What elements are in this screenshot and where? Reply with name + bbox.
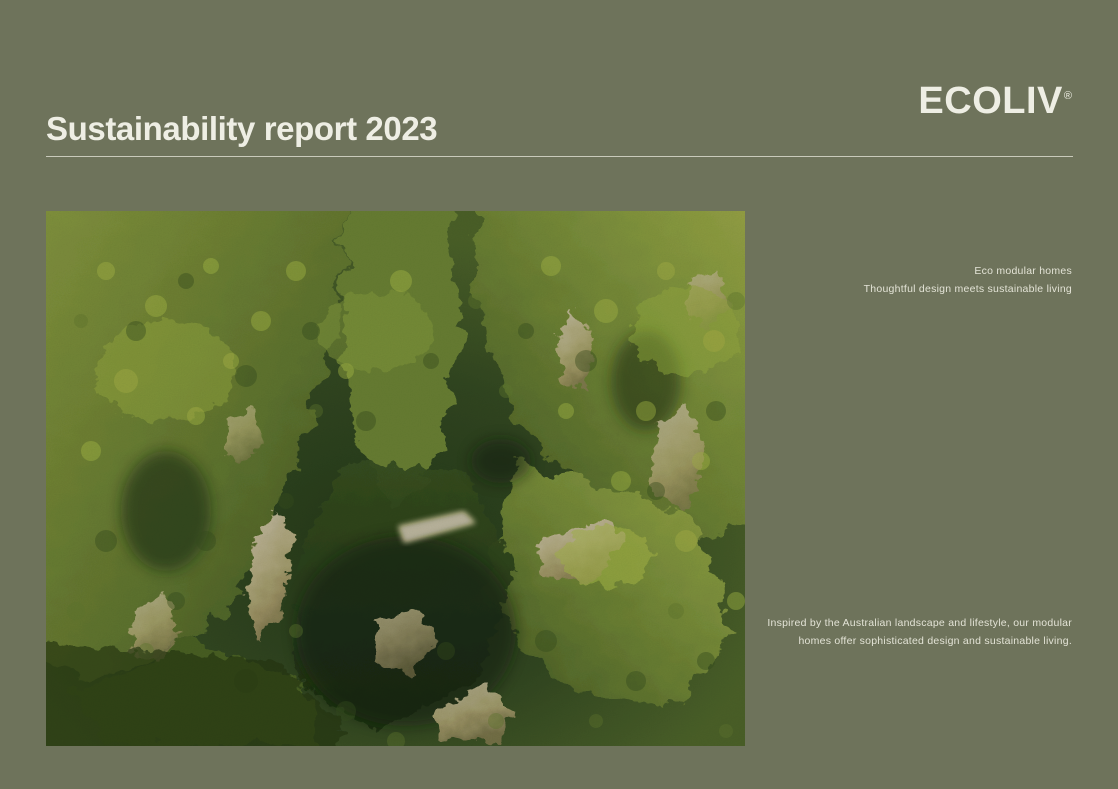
- brand-logo: ECOLIV®: [918, 82, 1072, 120]
- header-divider: [46, 156, 1073, 157]
- intro-blurb: Inspired by the Australian landscape and…: [732, 614, 1072, 651]
- hero-photo-artwork: [46, 211, 745, 746]
- tagline-line-2: Thoughtful design meets sustainable livi…: [742, 280, 1072, 298]
- tagline-block: Eco modular homes Thoughtful design meet…: [742, 262, 1072, 298]
- brand-wordmark: ECOLIV: [918, 80, 1062, 122]
- registered-trademark-icon: ®: [1064, 90, 1072, 102]
- hero-aerial-forest-photo: [46, 211, 745, 746]
- page-title: Sustainability report 2023: [46, 112, 437, 145]
- report-cover-page: Sustainability report 2023 ECOLIV®: [0, 0, 1118, 789]
- tagline-line-1: Eco modular homes: [742, 262, 1072, 280]
